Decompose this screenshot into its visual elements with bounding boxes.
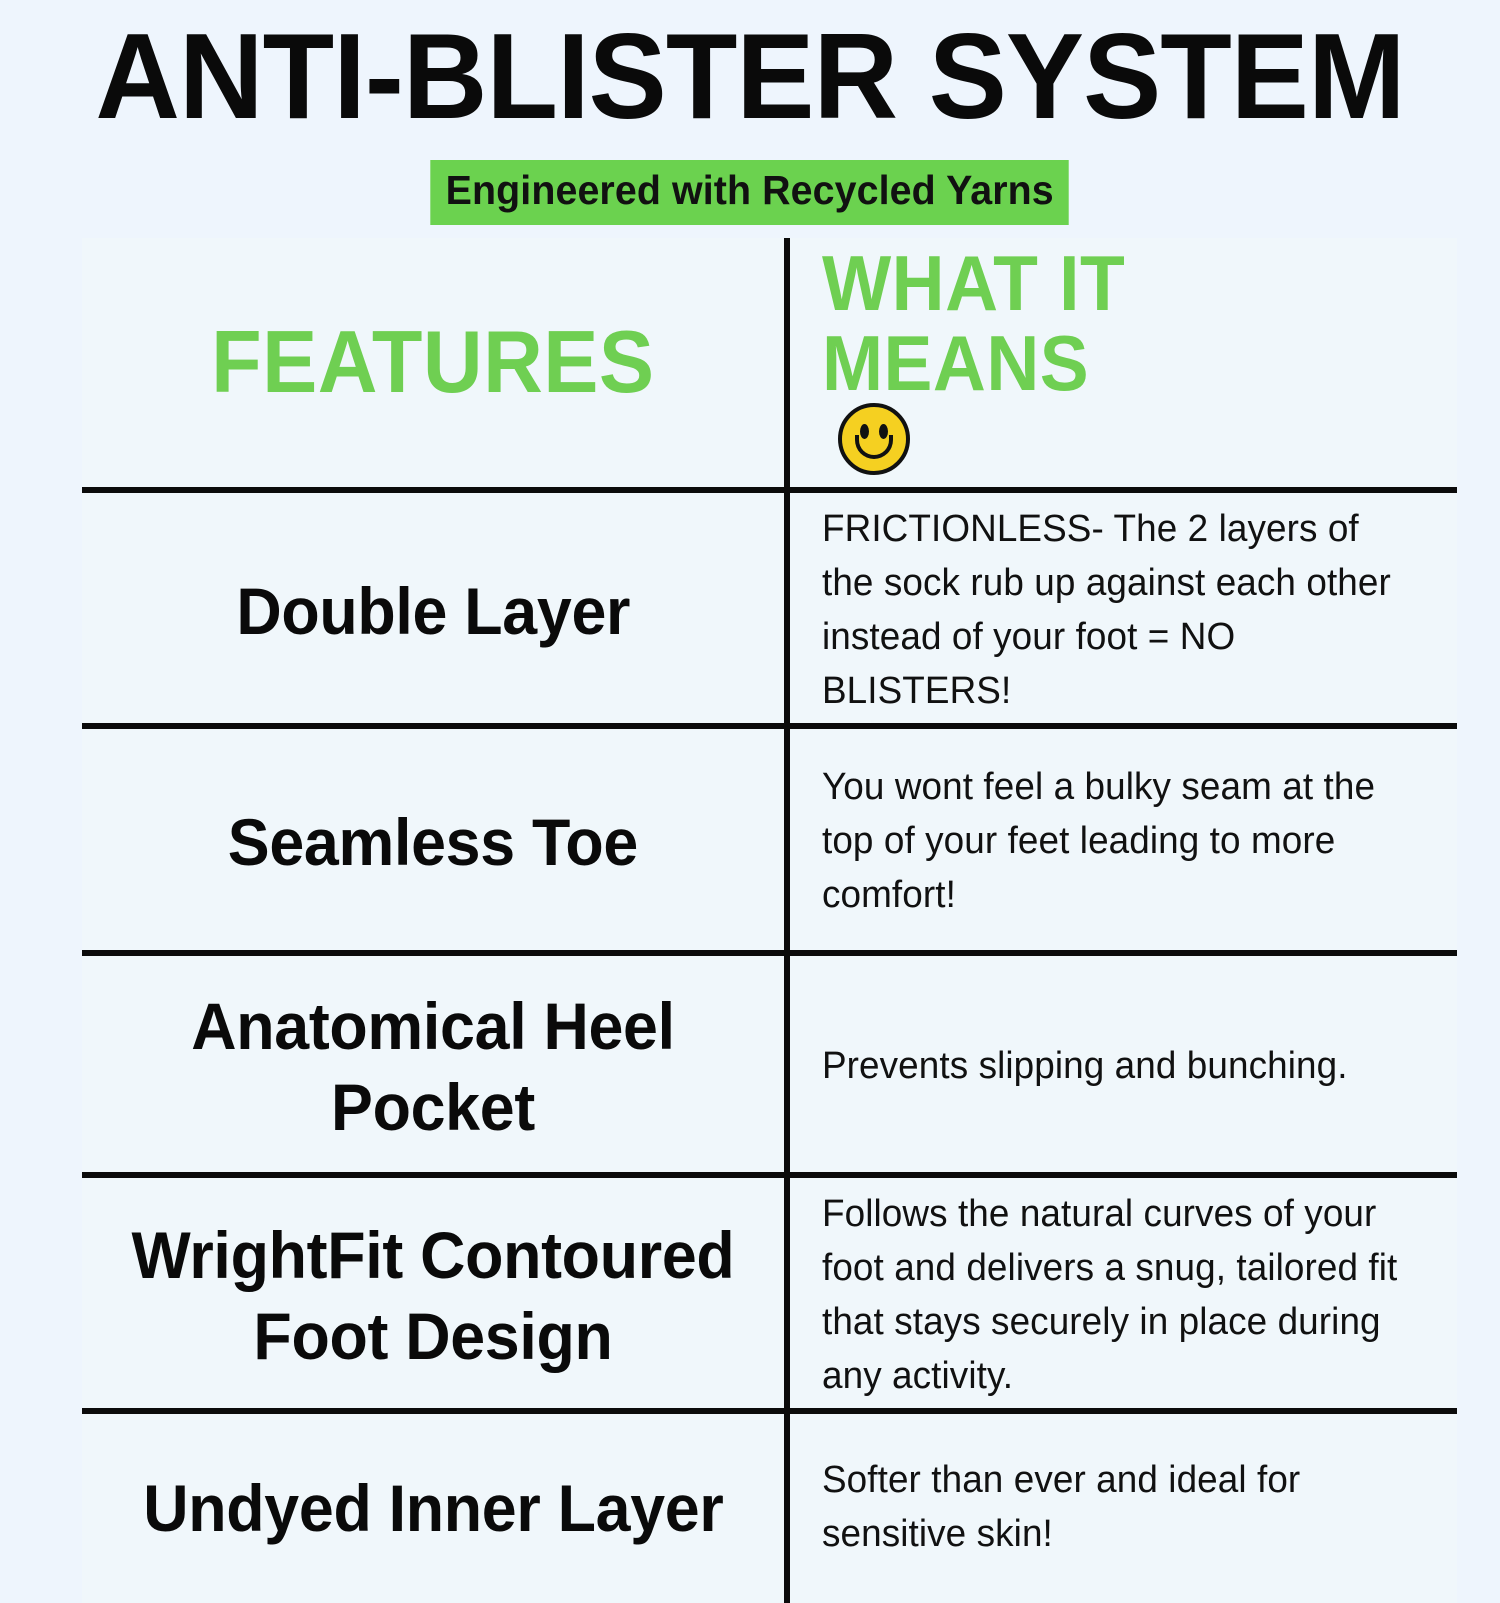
column-header-features-label: FEATURES [211, 318, 654, 406]
column-header-what-it-means-label: WHAT IT MEANS [822, 244, 1387, 403]
table-row: Anatomical Heel Pocket Prevents slipping… [82, 956, 1457, 1178]
smiley-face-icon [838, 403, 910, 475]
table-row: Seamless Toe You wont feel a bulky seam … [82, 729, 1457, 956]
feature-cell: Seamless Toe [82, 729, 784, 956]
feature-cell: Anatomical Heel Pocket [82, 956, 784, 1178]
meaning-cell: FRICTIONLESS- The 2 layers of the sock r… [790, 493, 1457, 729]
meaning-label: FRICTIONLESS- The 2 layers of the sock r… [822, 503, 1405, 719]
meaning-label: Softer than ever and ideal for sensitive… [822, 1454, 1405, 1562]
column-header-what-it-means-inner: WHAT IT MEANS [822, 244, 1423, 479]
meaning-cell: You wont feel a bulky seam at the top of… [790, 729, 1457, 956]
infographic-page: ANTI-BLISTER SYSTEM Engineered with Recy… [0, 0, 1500, 1500]
feature-label: Double Layer [236, 571, 630, 652]
feature-label: Undyed Inner Layer [143, 1468, 723, 1549]
meaning-cell: Softer than ever and ideal for sensitive… [790, 1414, 1457, 1603]
table-row: WrightFit Contoured Foot Design Follows … [82, 1178, 1457, 1414]
feature-cell: WrightFit Contoured Foot Design [82, 1178, 784, 1414]
meaning-label: Follows the natural curves of your foot … [822, 1188, 1405, 1404]
meaning-cell: Prevents slipping and bunching. [790, 956, 1457, 1178]
feature-label: Anatomical Heel Pocket [124, 986, 742, 1147]
column-header-features: FEATURES [82, 238, 784, 493]
column-header-what-it-means: WHAT IT MEANS [790, 238, 1457, 493]
feature-label: Seamless Toe [228, 802, 638, 883]
page-title: ANTI-BLISTER SYSTEM [30, 14, 1470, 138]
subtitle-wrap: Engineered with Recycled Yarns [0, 160, 1500, 224]
title-block: ANTI-BLISTER SYSTEM Engineered with Recy… [0, 0, 1500, 225]
subtitle-highlight: Engineered with Recycled Yarns [431, 160, 1070, 224]
feature-cell: Undyed Inner Layer [82, 1414, 784, 1603]
table-header-row: FEATURES WHAT IT MEANS [82, 238, 1457, 493]
table-row: Double Layer FRICTIONLESS- The 2 layers … [82, 493, 1457, 729]
meaning-label: You wont feel a bulky seam at the top of… [822, 761, 1405, 923]
table-row: Undyed Inner Layer Softer than ever and … [82, 1414, 1457, 1603]
smiley-mouth-icon [855, 435, 893, 459]
feature-label: WrightFit Contoured Foot Design [124, 1215, 742, 1376]
features-table: FEATURES WHAT IT MEANS Double Layer [82, 238, 1457, 1603]
feature-cell: Double Layer [82, 493, 784, 729]
meaning-cell: Follows the natural curves of your foot … [790, 1178, 1457, 1414]
meaning-label: Prevents slipping and bunching. [822, 1040, 1348, 1094]
